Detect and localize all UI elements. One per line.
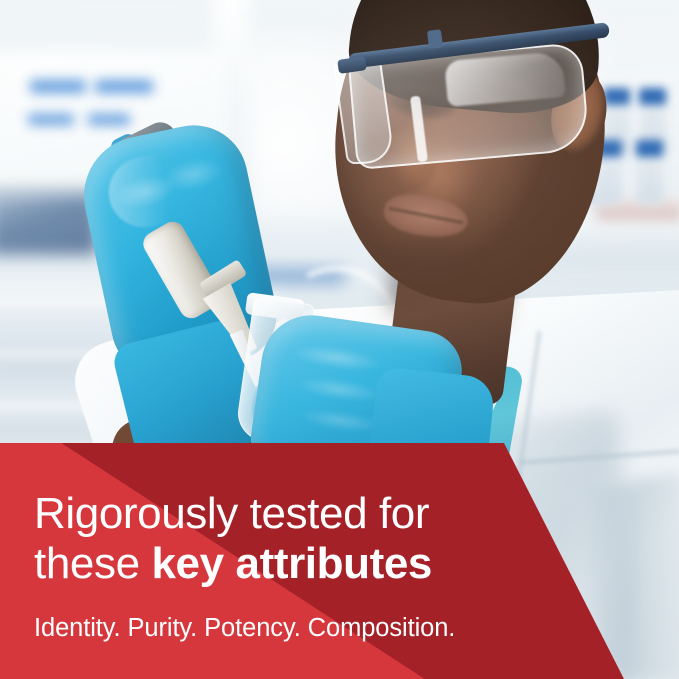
headline-line-2-plain: these bbox=[34, 539, 151, 588]
chin-shadow bbox=[380, 236, 480, 278]
attributes-subline: Identity. Purity. Potency. Composition. bbox=[34, 613, 594, 643]
banner-text-block: Rigorously tested for these key attribut… bbox=[34, 489, 594, 643]
safety-goggles-temple-segment bbox=[427, 29, 443, 49]
headline-line-1: Rigorously tested for bbox=[34, 489, 594, 539]
headline-line-2-emphasis: key attributes bbox=[151, 539, 432, 588]
headline-line-2: these key attributes bbox=[34, 539, 594, 589]
product-ad-banner: Rigorously tested for these key attribut… bbox=[0, 0, 679, 679]
